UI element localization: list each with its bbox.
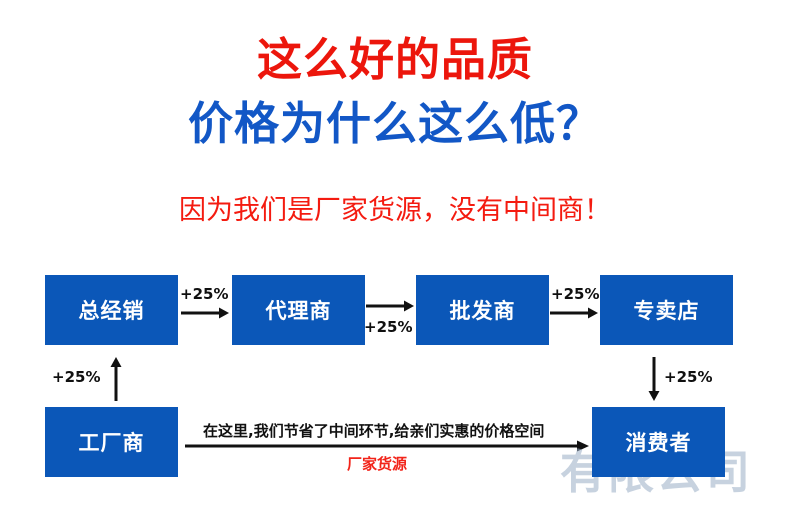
arrow-right-1 [181, 307, 229, 319]
node-label: 专卖店 [634, 295, 700, 325]
arrow-right-factory-to-consumer [185, 440, 589, 452]
flow-caption-text: 在这里,我们节省了中间环节,给亲们实惠的价格空间 [203, 420, 544, 441]
node-label: 消费者 [626, 427, 692, 457]
flow-caption-red-text: 厂家货源 [347, 453, 407, 474]
supply-chain-diagram: 总经销 代理商 批发商 专卖店 +25% +25% +25% [0, 0, 790, 512]
node-box-general-distributor: 总经销 [45, 275, 178, 345]
arrow-right-2 [366, 300, 414, 312]
node-label: 工厂商 [79, 427, 145, 457]
markup-label-2: +25% [364, 318, 412, 336]
promo-poster: 这么好的品质 价格为什么这么低？ 因为我们是厂家货源，没有中间商！ 总经销 代理… [0, 0, 790, 512]
node-label: 批发商 [450, 295, 516, 325]
arrow-up-to-distributor [110, 357, 122, 401]
markup-label-4: +25% [664, 368, 712, 386]
node-label: 总经销 [79, 295, 145, 325]
markup-label-5: +25% [52, 368, 100, 386]
arrow-down-to-consumer [648, 357, 660, 401]
markup-label-1: +25% [180, 285, 228, 303]
node-box-consumer: 消费者 [592, 407, 725, 477]
node-box-agent: 代理商 [232, 275, 365, 345]
node-box-factory: 工厂商 [45, 407, 178, 477]
markup-label-3: +25% [551, 285, 599, 303]
node-box-specialty-store: 专卖店 [600, 275, 733, 345]
node-label: 代理商 [266, 295, 332, 325]
arrow-right-3 [550, 307, 598, 319]
node-box-wholesaler: 批发商 [416, 275, 549, 345]
